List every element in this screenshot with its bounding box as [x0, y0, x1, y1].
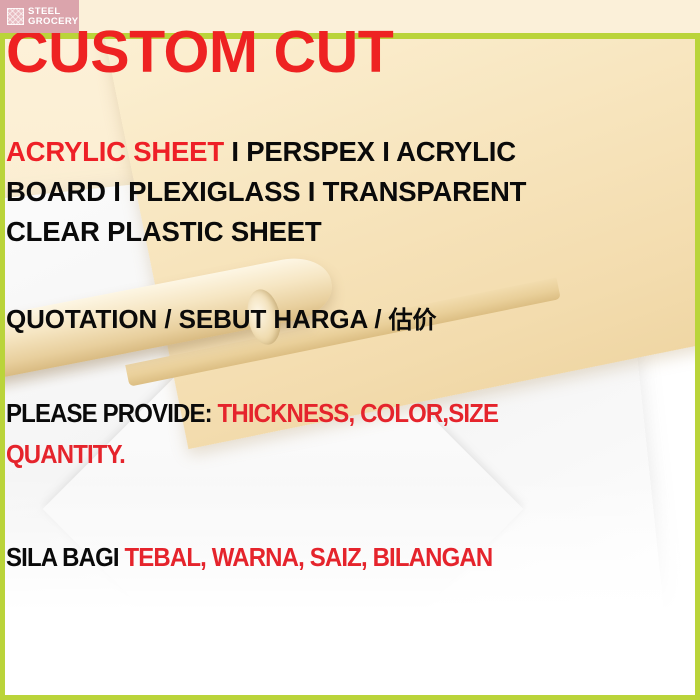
product-names-line-3: CLEAR PLASTIC SHEET: [6, 216, 322, 248]
please-provide-label: PLEASE PROVIDE:: [6, 400, 218, 428]
product-names-line-1: ACRYLIC SHEET I PERSPEX I ACRYLIC: [6, 136, 516, 168]
product-names-line-1-rest: I PERSPEX I ACRYLIC: [224, 136, 516, 167]
product-names-line-2: BOARD I PLEXIGLASS I TRANSPARENT: [6, 176, 526, 208]
sila-bagi-items: TEBAL, WARNA, SAIZ, BILANGAN: [124, 544, 492, 572]
sila-bagi-line: SILA BAGI TEBAL, WARNA, SAIZ, BILANGAN: [6, 544, 492, 573]
product-name-acrylic-sheet: ACRYLIC SHEET: [6, 136, 224, 167]
quotation-chinese: 估价: [389, 306, 437, 334]
quotation-separator-2: /: [367, 304, 388, 334]
please-provide-items-line-1: THICKNESS, COLOR,SIZE: [218, 400, 499, 428]
poster-canvas: CUSTOM CUT ACRYLIC SHEET I PERSPEX I ACR…: [0, 0, 700, 700]
brand-badge: STEEL GROCERY: [0, 0, 79, 33]
brand-name-line-2: GROCERY: [28, 17, 78, 27]
quotation-malay: SEBUT HARGA: [179, 304, 368, 334]
sila-bagi-label: SILA BAGI: [6, 544, 124, 572]
please-provide-items-line-2: QUANTITY.: [6, 441, 125, 469]
brand-name: STEEL GROCERY: [28, 7, 78, 26]
quotation-separator-1: /: [157, 304, 178, 334]
crosshatch-square-icon: [7, 8, 24, 25]
quotation-line: QUOTATION / SEBUT HARGA / 估价: [6, 300, 436, 335]
please-provide-line-2: QUANTITY.: [6, 441, 125, 470]
quotation-english: QUOTATION: [6, 304, 157, 334]
please-provide-line-1: PLEASE PROVIDE: THICKNESS, COLOR,SIZE: [6, 400, 498, 429]
text-overlay: CUSTOM CUT ACRYLIC SHEET I PERSPEX I ACR…: [0, 0, 700, 700]
